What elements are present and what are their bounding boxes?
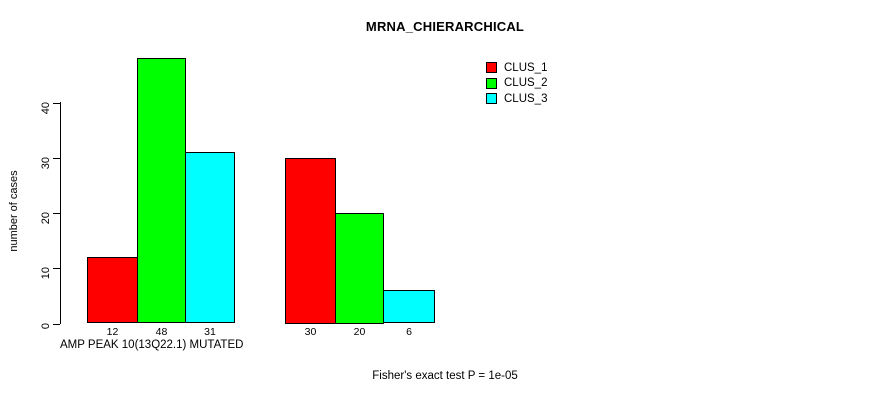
bar-chart: MRNA_CHIERARCHICAL number of cases 01020… (0, 0, 890, 400)
bar[interactable] (383, 290, 435, 323)
legend-color-swatch (486, 78, 497, 89)
legend-item-label: CLUS_3 (504, 93, 547, 105)
chart-title: MRNA_CHIERARCHICAL (0, 19, 890, 34)
y-tick-mark (53, 213, 60, 214)
legend-color-swatch (486, 93, 497, 104)
y-axis-title: number of cases (8, 151, 20, 271)
bar[interactable] (137, 58, 186, 323)
bar[interactable] (185, 152, 235, 323)
legend-item[interactable]: CLUS_2 (486, 76, 547, 92)
legend-item-label: CLUS_1 (504, 62, 547, 74)
legend-color-swatch (486, 62, 497, 73)
bar-value-label: 30 (285, 326, 336, 338)
x-axis-title: AMP PEAK 10(13Q22.1) MUTATED (60, 339, 243, 351)
y-tick-mark (53, 158, 60, 159)
y-tick-label: 0 (40, 323, 52, 369)
legend-item[interactable]: CLUS_1 (486, 60, 547, 76)
bar[interactable] (285, 158, 336, 324)
y-tick-mark (53, 103, 60, 104)
y-tick-label: 20 (40, 212, 52, 258)
y-tick-label: 40 (40, 102, 52, 148)
bar-value-label: 20 (335, 326, 384, 338)
legend: CLUS_1CLUS_2CLUS_3 (486, 60, 547, 107)
bar-value-label: 48 (137, 326, 186, 338)
legend-item-label: CLUS_2 (504, 77, 547, 89)
bar-value-label: 12 (87, 326, 138, 338)
y-axis-line (60, 102, 61, 324)
bar[interactable] (87, 257, 138, 323)
legend-item[interactable]: CLUS_3 (486, 91, 547, 107)
bar-value-label: 6 (383, 326, 435, 338)
bar-value-label: 31 (185, 326, 235, 338)
y-tick-label: 30 (40, 157, 52, 203)
bar[interactable] (335, 213, 384, 324)
y-tick-label: 10 (40, 267, 52, 313)
statistical-annotation: Fisher's exact test P = 1e-05 (0, 370, 890, 382)
y-tick-mark (53, 268, 60, 269)
y-tick-mark (53, 324, 60, 325)
